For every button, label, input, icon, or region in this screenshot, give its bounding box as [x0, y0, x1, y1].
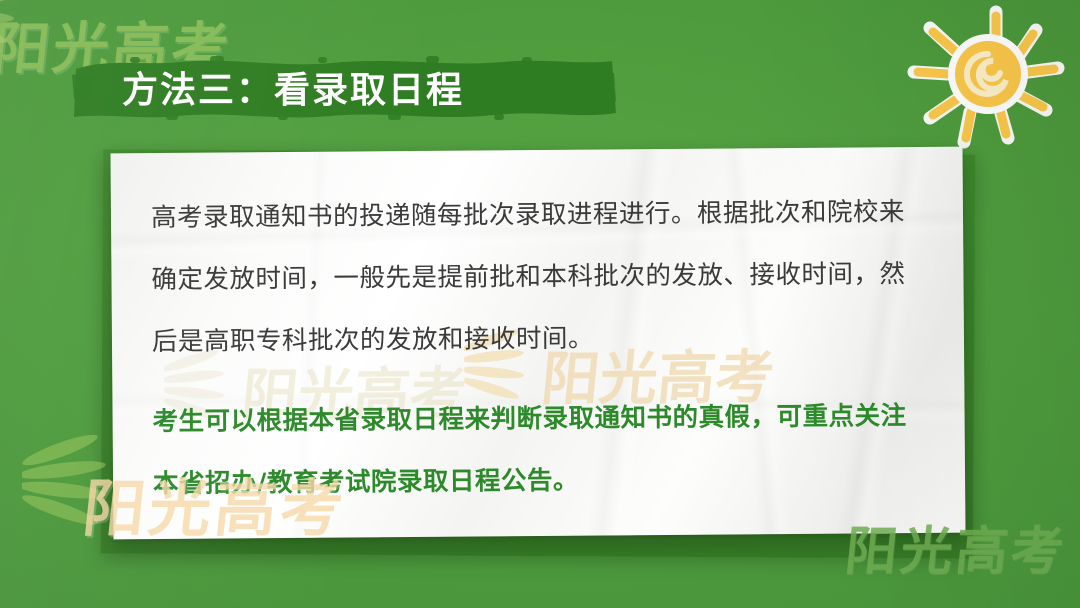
card-text-block: 高考录取通知书的投递随每批次录取进程进行。根据批次和院校来确定发放时间，一般先是… — [151, 181, 932, 515]
content-card: 阳光高考 阳光高考 高考录取通知书的投递随每批次录取进程进行。根据批次和院校来确… — [110, 147, 965, 540]
slide-canvas: 阳光高考 — [0, 0, 1080, 608]
title-banner: 方法三：看录取日程 — [70, 55, 618, 121]
page-title: 方法三：看录取日程 — [122, 61, 464, 113]
emphasis-paragraph: 考生可以根据本省录取日程来判断录取通知书的真假，可重点关注本省招办/教育考试院录… — [152, 385, 931, 515]
body-paragraph: 高考录取通知书的投递随每批次录取进程进行。根据批次和院校来确定发放时间，一般先是… — [151, 181, 930, 373]
